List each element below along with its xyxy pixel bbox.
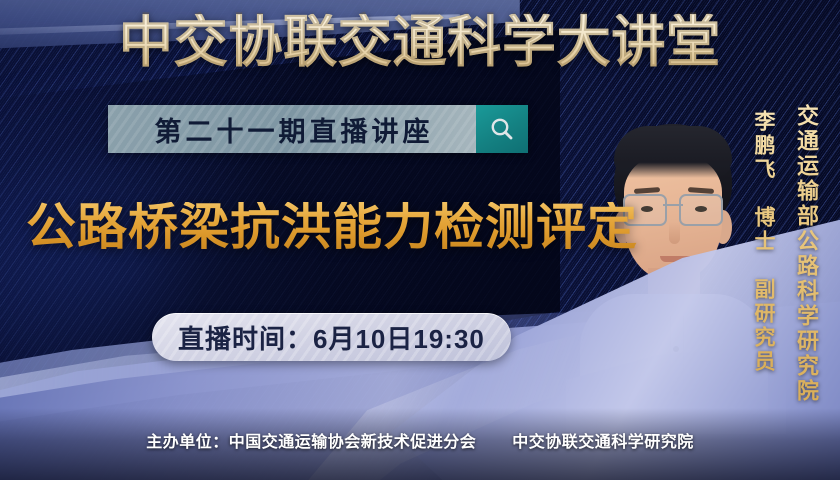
- portrait-shirt-button-top: [673, 346, 679, 352]
- episode-banner: 第二十一期直播讲座: [108, 105, 528, 153]
- speaker-portrait: [586, 118, 762, 408]
- live-time-badge: 直播时间：6月10日19:30: [152, 313, 511, 361]
- portrait-nose: [669, 222, 680, 244]
- page-title: 中交协联交通科学大讲堂: [17, 14, 823, 70]
- speaker-organization: 交通运输部公路科学研究院: [790, 104, 822, 404]
- lecture-title: 公路桥梁抗洪能力检测评定: [26, 202, 638, 252]
- live-lecture-poster: 中交协联交通科学大讲堂 第二十一期直播讲座 公路桥梁抗洪能力检测评定 直播时间：…: [0, 0, 840, 480]
- glasses-bridge: [663, 204, 683, 206]
- footer-co-organizer: 中交协联交通科学研究院: [512, 434, 694, 451]
- footer-organizer: 主办单位：中国交通运输协会新技术促进分会: [146, 434, 476, 451]
- speaker-name: 李鹏飞 博士 副研究员: [748, 110, 778, 374]
- episode-label: 第二十一期直播讲座: [108, 105, 476, 153]
- portrait-mouth: [660, 256, 690, 262]
- search-icon[interactable]: [476, 105, 528, 153]
- footer: 主办单位：中国交通运输协会新技术促进分会 中交协联交通科学研究院: [0, 428, 840, 452]
- portrait-fringe: [614, 126, 732, 178]
- glasses-lens-right: [679, 194, 723, 226]
